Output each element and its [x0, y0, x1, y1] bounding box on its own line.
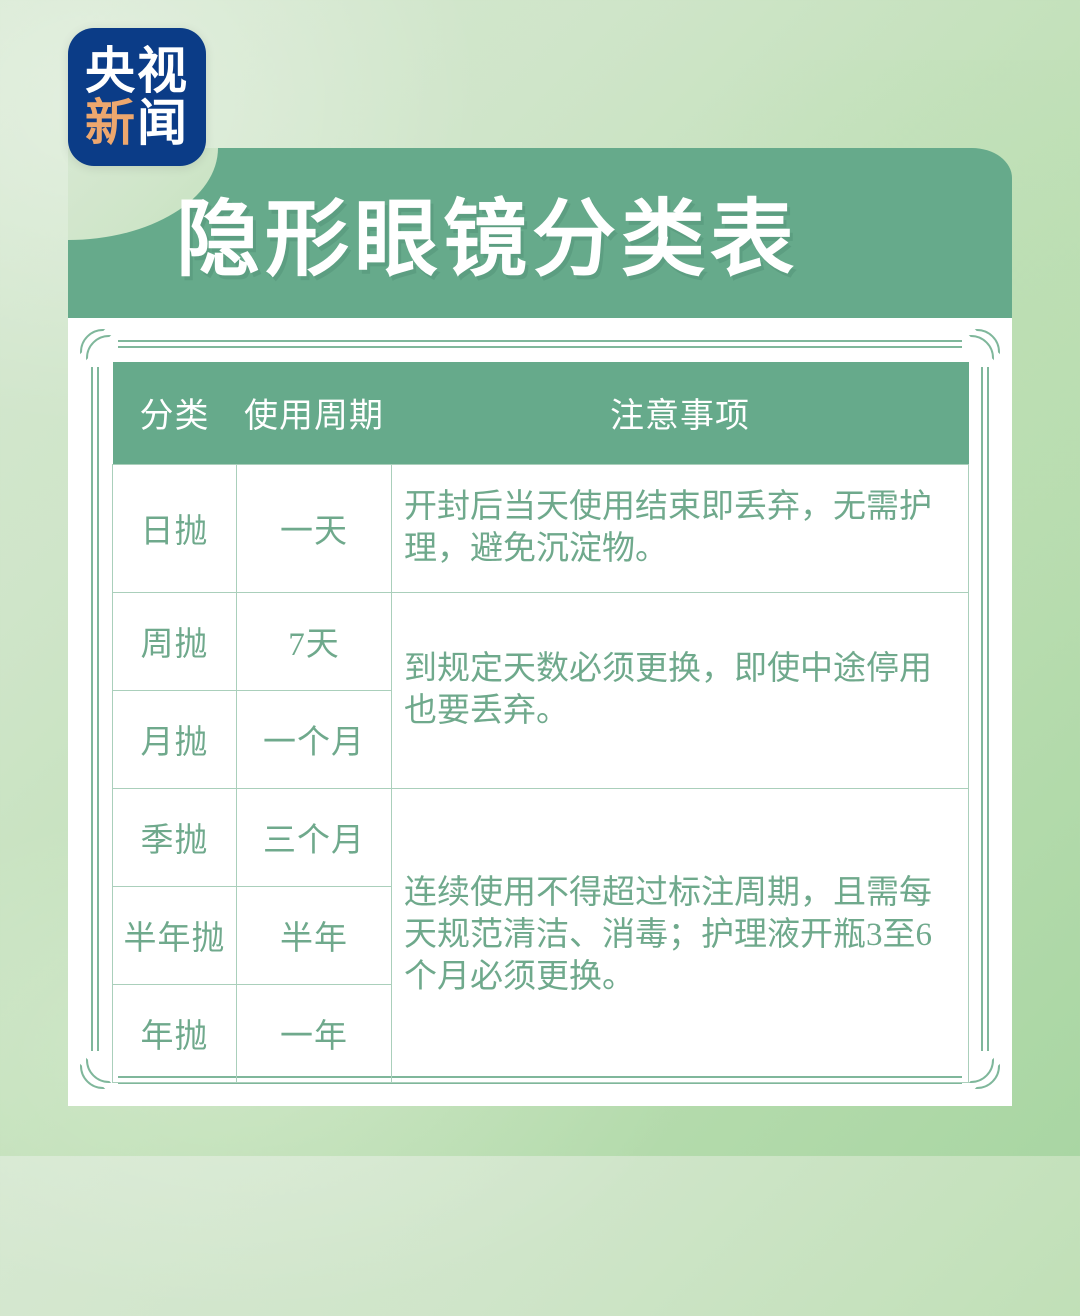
cell-cycle: 一年 [237, 984, 392, 1082]
logo-char-wen: 闻 [137, 95, 189, 151]
column-header-notes: 注意事项 [392, 362, 969, 464]
logo-line-yangshi: 央视 [85, 45, 189, 97]
column-header-category: 分类 [113, 362, 237, 464]
table-body: 日抛 一天 开封后当天使用结束即丢弃，无需护理，避免沉淀物。 周抛 7天 到规定… [113, 464, 969, 1082]
cell-category: 年抛 [113, 984, 237, 1082]
table-header: 分类 使用周期 注意事项 [113, 362, 969, 464]
cell-cycle: 三个月 [237, 788, 392, 886]
cell-category: 周抛 [113, 592, 237, 690]
cell-category: 季抛 [113, 788, 237, 886]
cell-note: 开封后当天使用结束即丢弃，无需护理，避免沉淀物。 [392, 464, 969, 592]
cell-category: 半年抛 [113, 886, 237, 984]
cell-cycle: 一天 [237, 464, 392, 592]
logo-line-xinwen: 新闻 [85, 97, 189, 149]
table-row: 季抛 三个月 连续使用不得超过标注周期，且需每天规范清洁、消毒；护理液开瓶3至6… [113, 788, 969, 886]
cell-cycle: 7天 [237, 592, 392, 690]
column-header-cycle: 使用周期 [237, 362, 392, 464]
cell-note: 连续使用不得超过标注周期，且需每天规范清洁、消毒；护理液开瓶3至6个月必须更换。 [392, 788, 969, 1082]
classification-table-wrapper: 分类 使用周期 注意事项 日抛 一天 开封后当天使用结束即丢弃，无需护理，避免沉… [112, 362, 968, 1064]
cell-note: 到规定天数必须更换，即使中途停用也要丢弃。 [392, 592, 969, 788]
table-header-row: 分类 使用周期 注意事项 [113, 362, 969, 464]
page-title: 隐形眼镜分类表 [176, 162, 936, 302]
table-row: 周抛 7天 到规定天数必须更换，即使中途停用也要丢弃。 [113, 592, 969, 690]
cctv-news-logo: 央视 新闻 [68, 28, 206, 166]
cell-cycle: 一个月 [237, 690, 392, 788]
table-row: 日抛 一天 开封后当天使用结束即丢弃，无需护理，避免沉淀物。 [113, 464, 969, 592]
cell-category: 日抛 [113, 464, 237, 592]
classification-table: 分类 使用周期 注意事项 日抛 一天 开封后当天使用结束即丢弃，无需护理，避免沉… [112, 362, 969, 1083]
logo-char-xin: 新 [85, 95, 137, 151]
cell-cycle: 半年 [237, 886, 392, 984]
cell-category: 月抛 [113, 690, 237, 788]
